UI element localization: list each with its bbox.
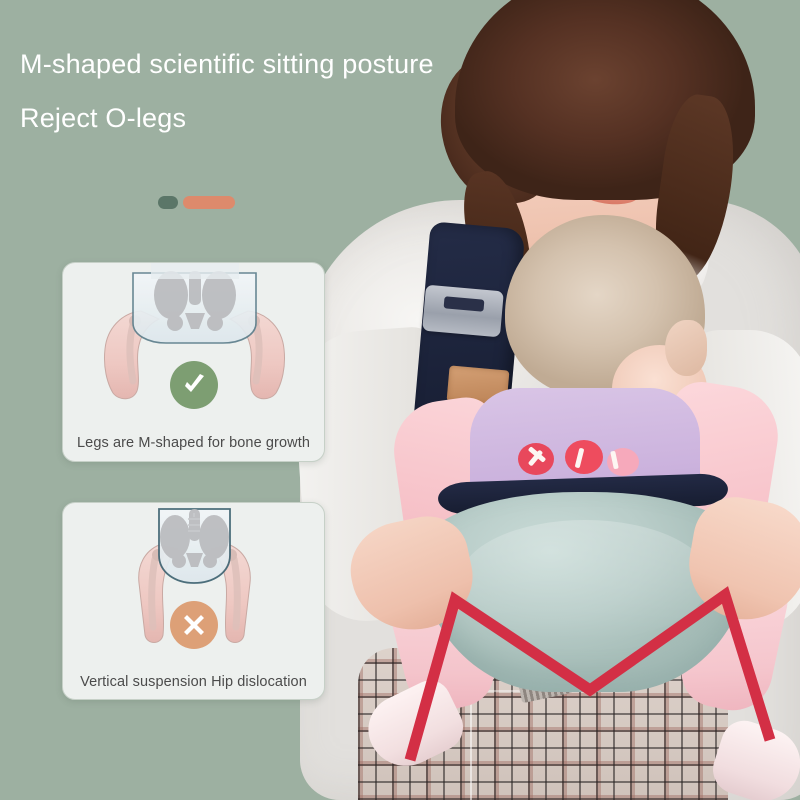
card-2-caption: Vertical suspension Hip dislocation — [63, 674, 324, 690]
skirt-pocket — [470, 690, 590, 800]
card-1-caption: Legs are M-shaped for bone growth — [63, 435, 324, 451]
pagination-dot[interactable] — [158, 196, 178, 209]
carrier-pouch-highlight — [460, 520, 710, 640]
infographic-canvas: M-shaped scientific sitting posture Reje… — [0, 0, 800, 800]
headline-line-1: M-shaped scientific sitting posture — [20, 50, 490, 78]
headline-line-2: Reject O-legs — [20, 104, 490, 132]
check-glyph — [179, 370, 209, 400]
info-card-correct-posture[interactable]: Legs are M-shaped for bone growth — [62, 262, 325, 462]
card-1-illustration — [63, 263, 324, 415]
cross-icon — [170, 601, 218, 649]
cross-glyph — [180, 611, 208, 639]
baby-top-graphic-dot-2 — [565, 440, 603, 474]
pagination-indicator[interactable] — [158, 196, 235, 209]
info-card-incorrect-posture[interactable]: Vertical suspension Hip dislocation — [62, 502, 325, 700]
pagination-active-bar[interactable] — [183, 196, 235, 209]
carrier-buckle — [422, 285, 504, 338]
baby-ear — [665, 320, 707, 376]
headline-block: M-shaped scientific sitting posture Reje… — [20, 50, 490, 133]
card-2-illustration — [63, 503, 324, 655]
check-icon — [170, 361, 218, 409]
